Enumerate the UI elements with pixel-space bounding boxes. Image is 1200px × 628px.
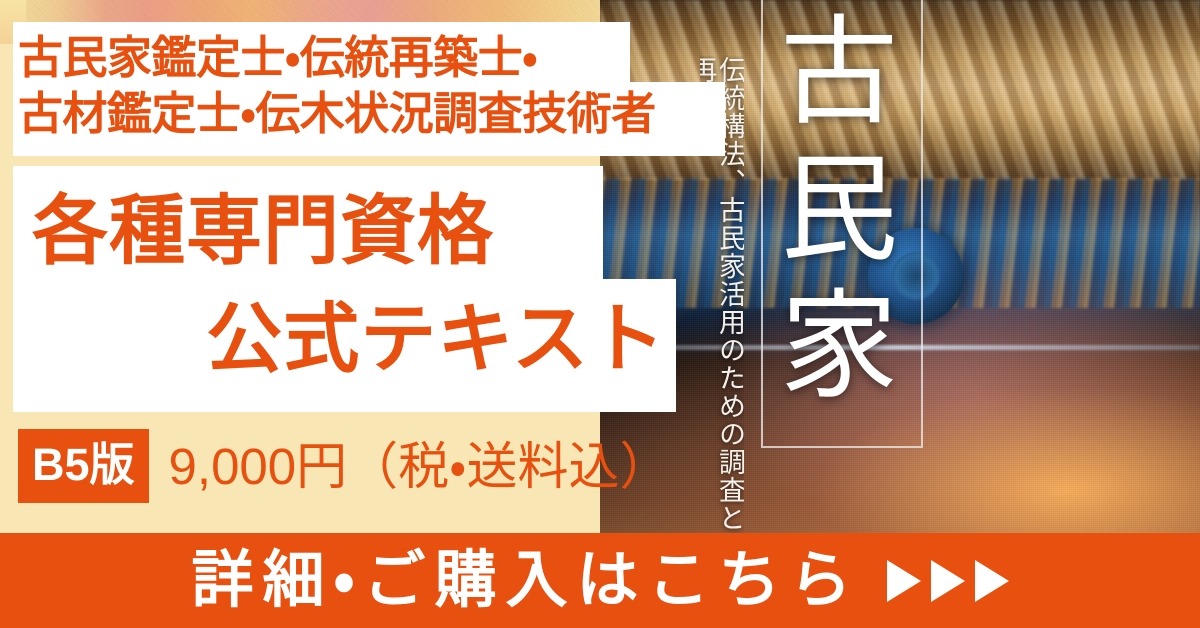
- price-text: 9,000円（税・送料込）: [169, 441, 671, 492]
- cover-title: 古民 家: [766, 6, 914, 417]
- play-arrow-icon: [887, 560, 921, 602]
- cta-arrows: [887, 560, 1009, 602]
- play-arrow-icon: [975, 560, 1009, 602]
- cta-label: 詳細・ご購入はこちら: [191, 550, 860, 612]
- format-badge: B5版: [18, 429, 149, 503]
- qualifications-text: 古民家鑑定士・伝統再築士・ 古材鑑定士・伝木状況調査技術者: [18, 30, 718, 142]
- headline-line-2: 公式テキスト: [16, 286, 676, 394]
- cta-bar[interactable]: 詳細・ご購入はこちら: [0, 533, 1200, 628]
- headline-line-1: 各種専門資格: [16, 178, 676, 286]
- play-arrow-icon: [931, 560, 965, 602]
- promo-banner: 古民 家 伝統構法、古民家活用のための調査と再生の 古民家鑑定士・伝統再築士・ …: [0, 0, 1200, 628]
- headline: 各種専門資格 公式テキスト: [16, 178, 676, 394]
- price-row: B5版 9,000円（税・送料込）: [18, 430, 671, 502]
